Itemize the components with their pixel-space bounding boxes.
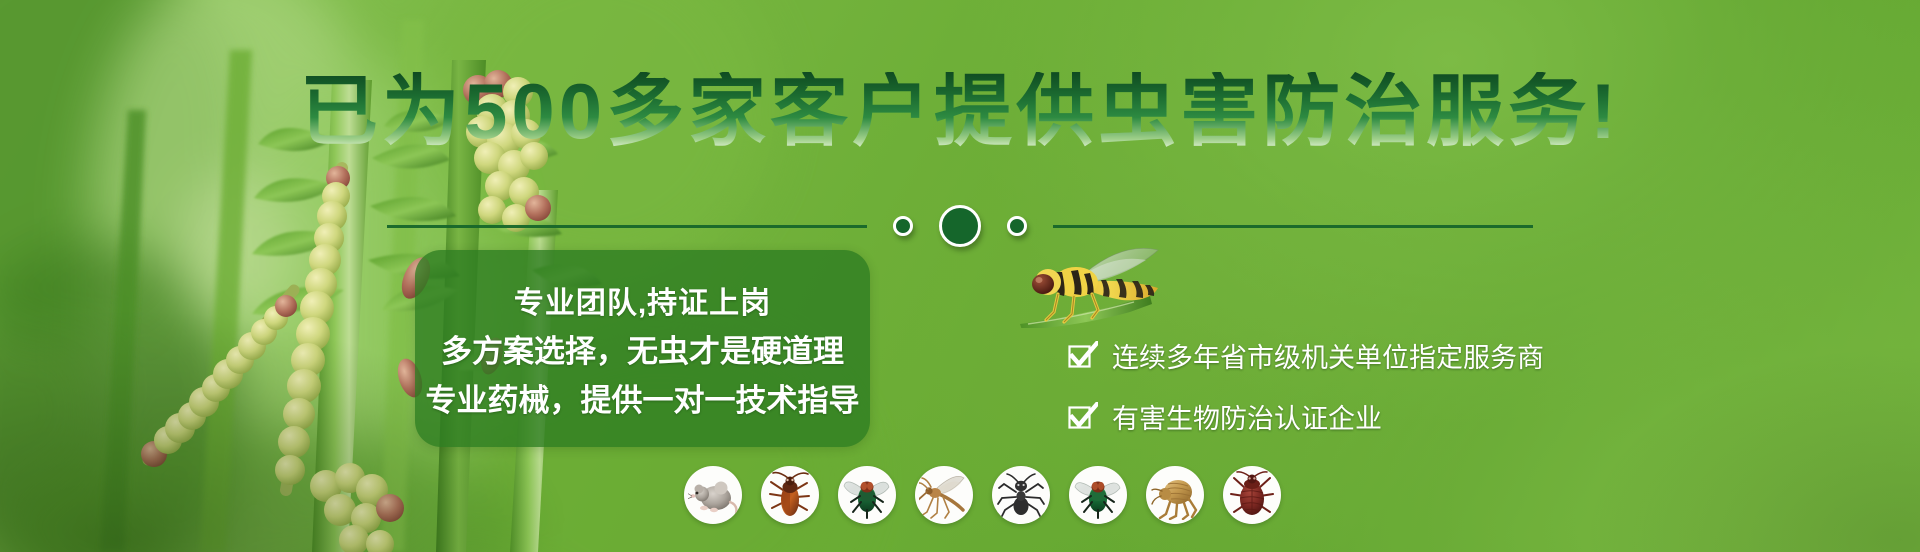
promo-banner: 已为500多家客户提供虫害防治服务! 已为500多家客户提供虫害防治服务! 专业… — [0, 0, 1920, 552]
feature-line-2: 多方案选择，无虫才是硬道理 — [441, 326, 844, 371]
divider — [0, 206, 1920, 246]
pest-icon-strip — [684, 466, 1281, 524]
ant-icon[interactable] — [992, 466, 1050, 524]
flea-icon[interactable] — [1146, 466, 1204, 524]
credential-list: 连续多年省市级机关单位指定服务商 有害生物防治认证企业 — [1068, 336, 1544, 436]
feature-line-1: 专业团队,持证上岗 — [514, 278, 771, 322]
headline-text: 已为500多家客户提供虫害防治服务! — [294, 72, 1626, 150]
divider-dots — [893, 205, 1027, 247]
checkbox-check-icon — [1068, 402, 1098, 432]
divider-dot-small-right — [1007, 216, 1027, 236]
mosquito-icon[interactable] — [915, 466, 973, 524]
mouse-icon[interactable] — [684, 466, 742, 524]
bedbug-icon[interactable] — [1223, 466, 1281, 524]
page-title: 已为500多家客户提供虫害防治服务! — [0, 72, 1920, 150]
housefly-icon[interactable] — [838, 466, 896, 524]
divider-dot-small-left — [893, 216, 913, 236]
hoverfly-image — [1018, 238, 1178, 328]
divider-rule-right — [1053, 225, 1533, 228]
list-item: 有害生物防治认证企业 — [1068, 397, 1544, 436]
feature-panel: 专业团队,持证上岗 多方案选择，无虫才是硬道理 专业药械，提供一对一技术指导 — [415, 250, 870, 447]
list-item-label: 有害生物防治认证企业 — [1112, 397, 1382, 436]
blowfly-icon[interactable] — [1069, 466, 1127, 524]
cockroach-icon[interactable] — [761, 466, 819, 524]
list-item-label: 连续多年省市级机关单位指定服务商 — [1112, 336, 1544, 375]
checkbox-check-icon — [1068, 341, 1098, 371]
divider-rule-left — [387, 225, 867, 228]
list-item: 连续多年省市级机关单位指定服务商 — [1068, 336, 1544, 375]
feature-line-3: 专业药械，提供一对一技术指导 — [426, 375, 860, 420]
divider-dot-large — [939, 205, 981, 247]
